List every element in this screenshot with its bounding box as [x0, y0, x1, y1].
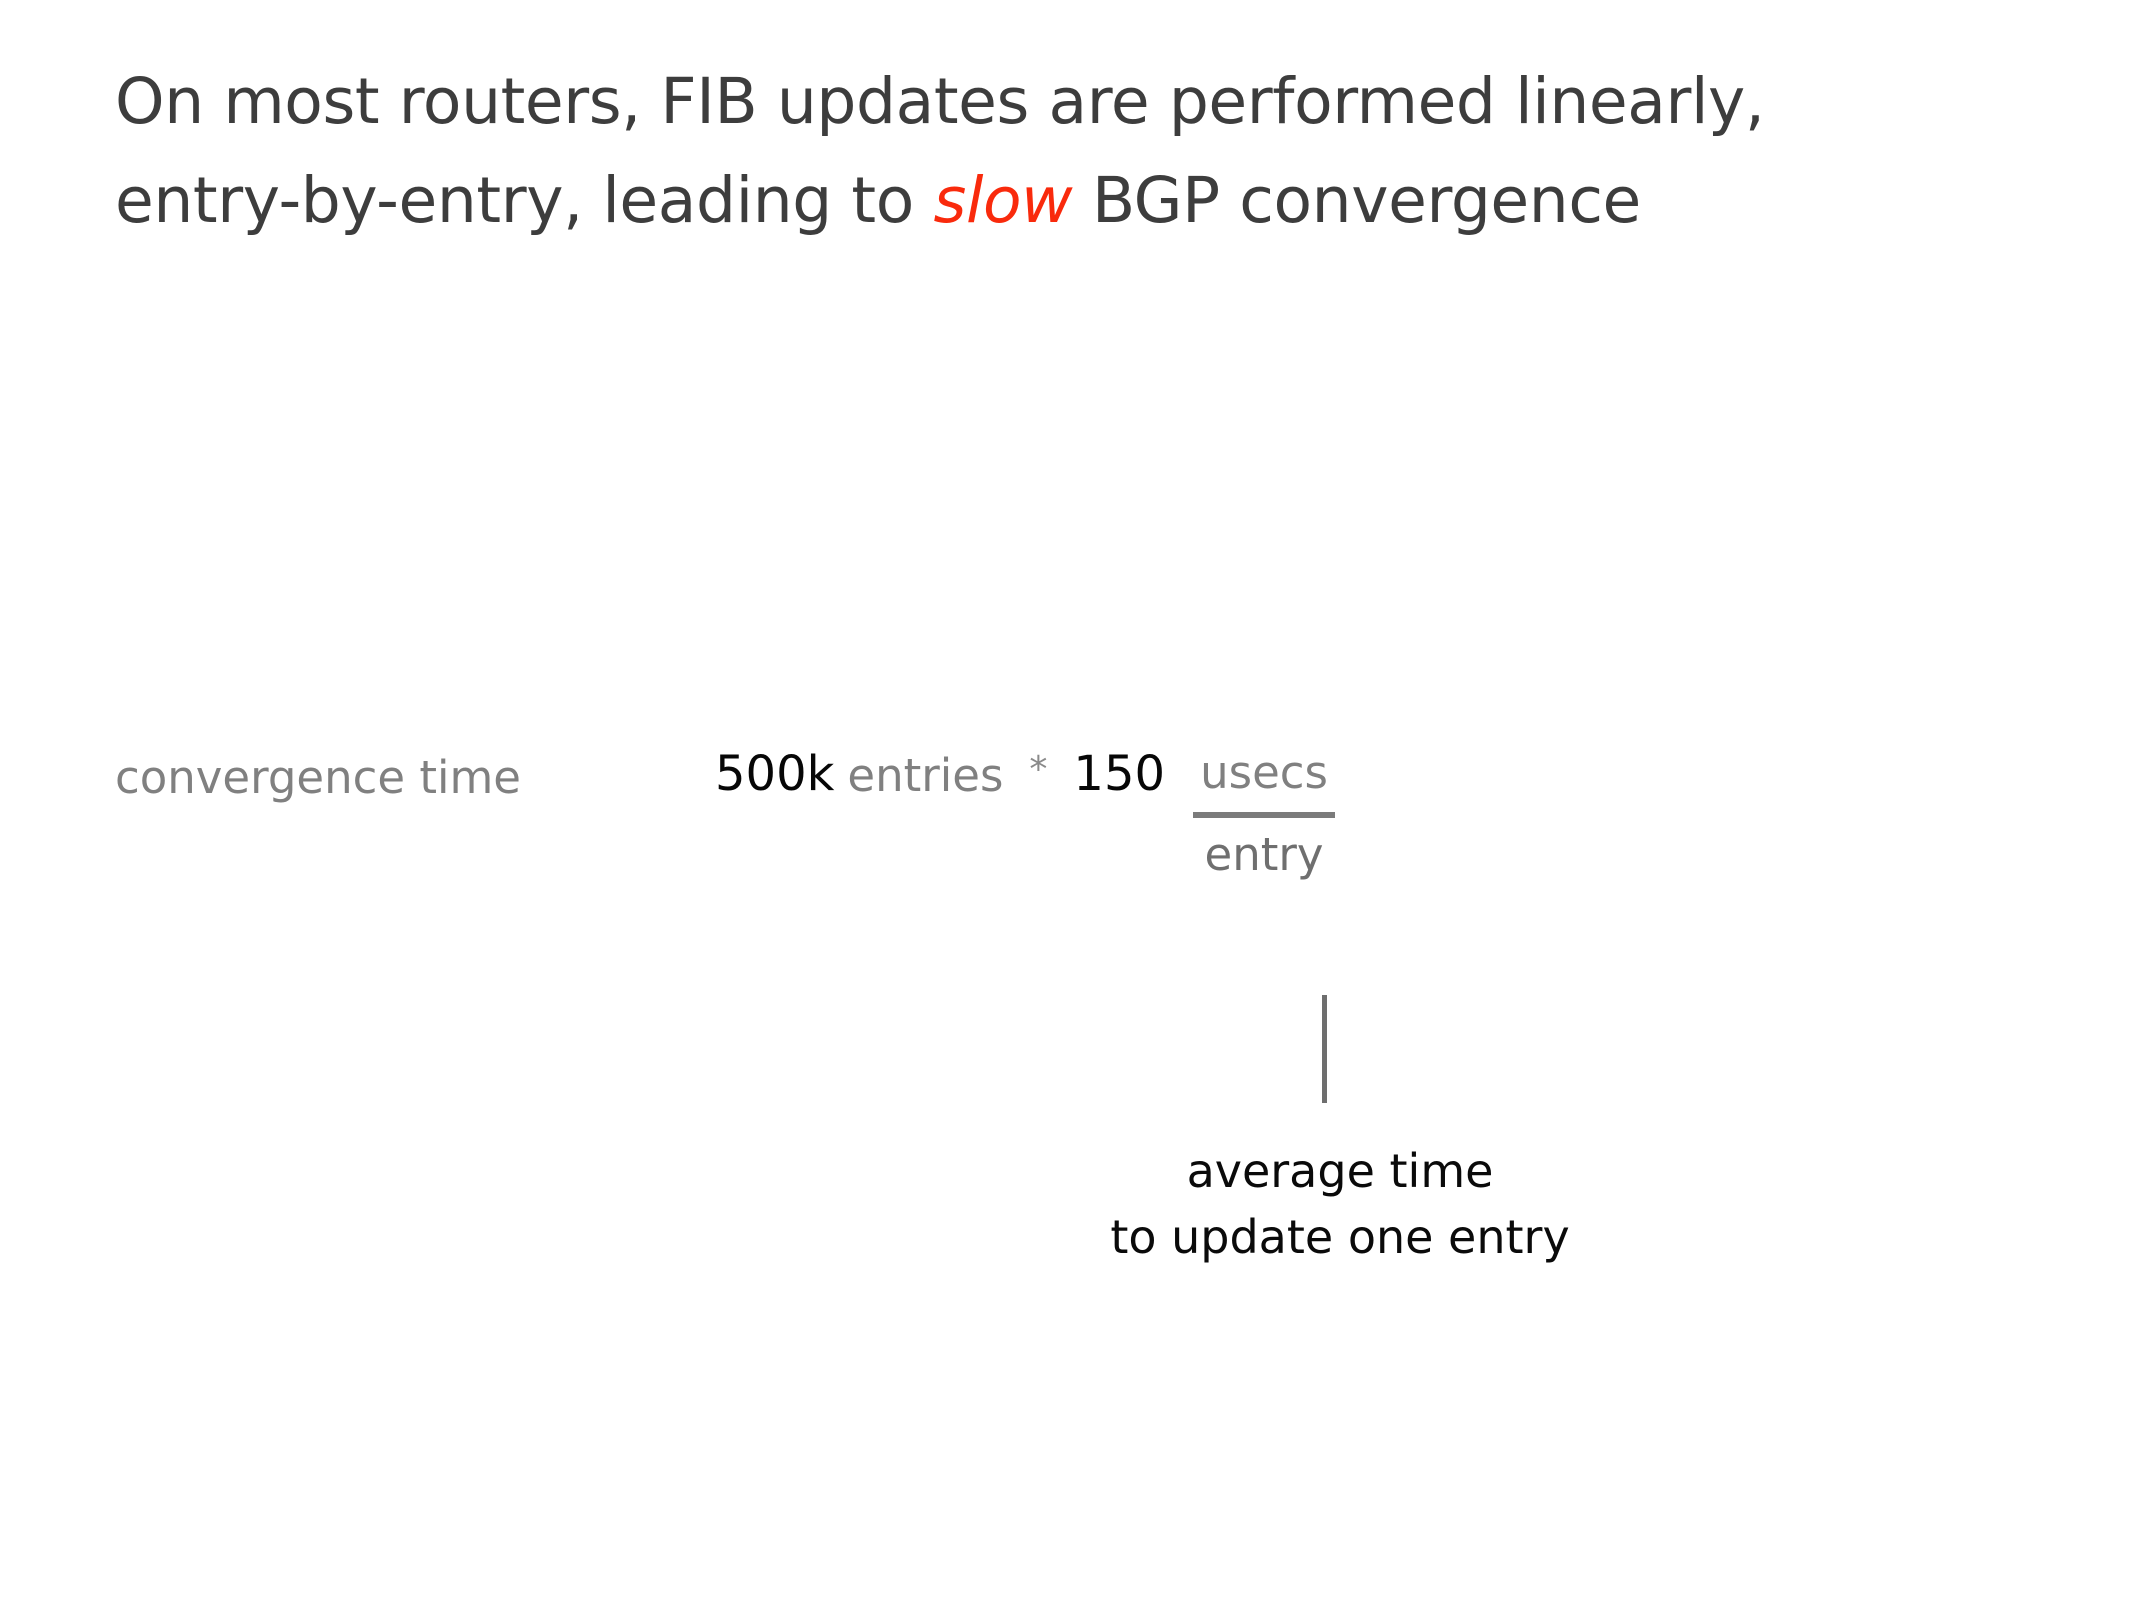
title-line-2-prefix: entry-by-entry, leading to	[115, 164, 934, 237]
title-line-2-suffix: BGP convergence	[1072, 164, 1641, 237]
callout-line-1: average time	[1005, 1138, 1675, 1204]
formula-expression: 500k entries * 150 usecs entry	[715, 742, 1335, 886]
formula-rate-value: 150	[1073, 742, 1165, 806]
title-emphasis-slow: slow	[934, 164, 1073, 237]
callout-line-2: to update one entry	[1005, 1204, 1675, 1270]
title-line-2: entry-by-entry, leading to slow BGP conv…	[115, 151, 2015, 250]
fraction-denominator: entry	[1205, 824, 1324, 886]
slide-canvas: On most routers, FIB updates are perform…	[0, 0, 2134, 1600]
callout-text: average time to update one entry	[1005, 1138, 1675, 1270]
rate-fraction: usecs entry	[1193, 742, 1335, 886]
slide-title: On most routers, FIB updates are perform…	[115, 52, 2015, 250]
callout-connector-line	[1322, 995, 1327, 1103]
formula-entry-unit: entries	[847, 742, 1003, 808]
fraction-numerator: usecs	[1200, 742, 1328, 804]
title-line-1: On most routers, FIB updates are perform…	[115, 52, 2015, 151]
convergence-time-formula: convergence time 500k entries * 150 usec…	[115, 742, 1615, 932]
formula-entry-count: 500k	[715, 742, 834, 806]
multiply-operator-icon: *	[1029, 742, 1047, 796]
formula-label: convergence time	[115, 750, 521, 806]
fraction-rule	[1193, 812, 1335, 818]
